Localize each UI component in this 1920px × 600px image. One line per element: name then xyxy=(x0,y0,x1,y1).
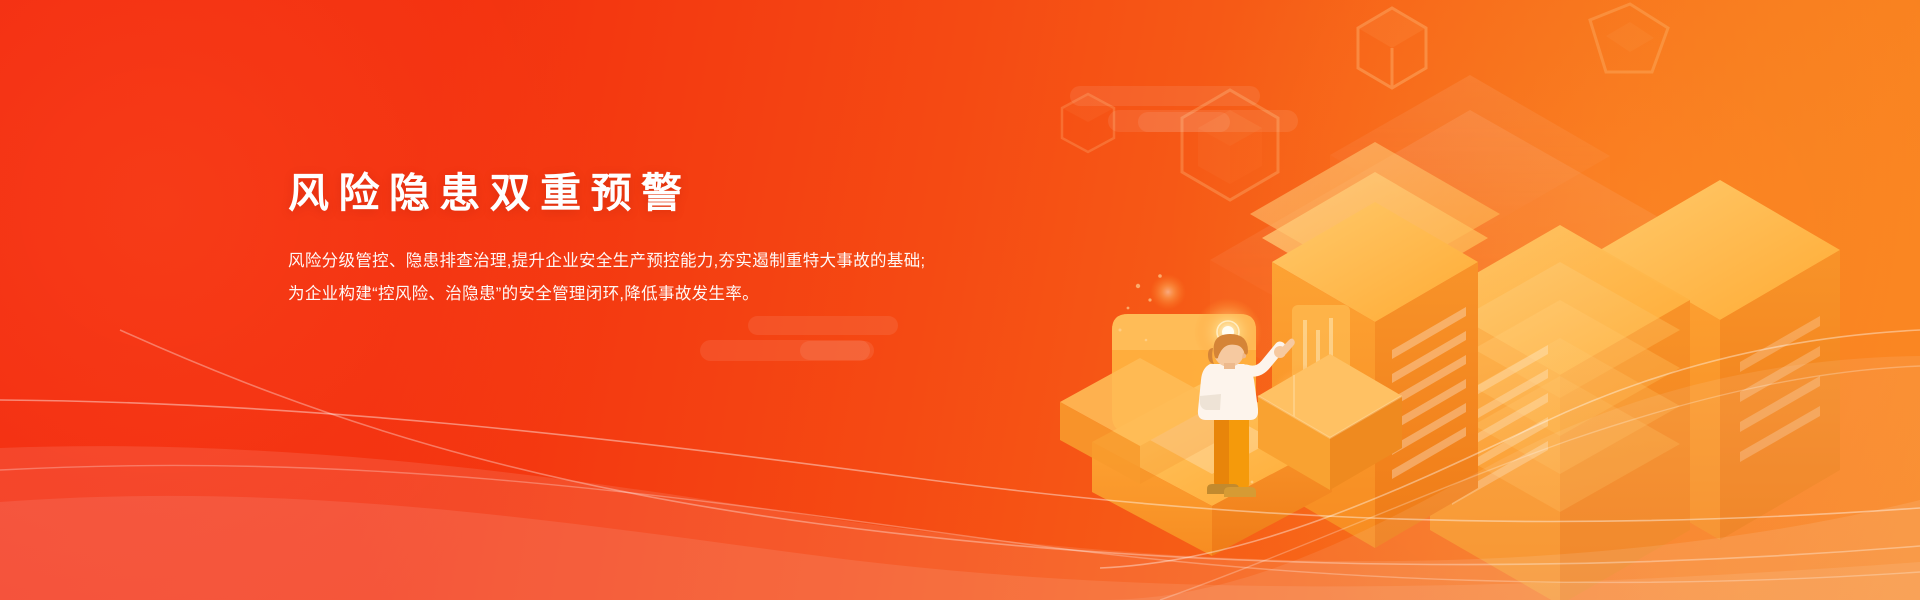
page-title: 风险隐患双重预警 xyxy=(288,168,1048,219)
hexagon-outline-small xyxy=(1062,94,1114,152)
pentagon-outline xyxy=(1590,4,1668,72)
banner-subtitle: 风险分级管控、隐患排查治理,提升企业安全生产预控能力,夯实遏制重特大事故的基础;… xyxy=(288,245,1048,311)
banner-copy: 风险隐患双重预警 风险分级管控、隐患排查治理,提升企业安全生产预控能力,夯实遏制… xyxy=(288,168,1048,311)
wave-decoration-right xyxy=(1100,300,1920,600)
hexagon-outline xyxy=(1358,8,1426,88)
subtitle-line-2: 为企业构建“控风险、治隐患”的安全管理闭环,降低事故发生率。 xyxy=(288,278,1048,311)
cube-outline xyxy=(1182,90,1278,200)
subtitle-line-1: 风险分级管控、隐患排查治理,提升企业安全生产预控能力,夯实遏制重特大事故的基础; xyxy=(288,245,1048,278)
hero-banner: 风险隐患双重预警 风险分级管控、隐患排查治理,提升企业安全生产预控能力,夯实遏制… xyxy=(0,0,1920,600)
